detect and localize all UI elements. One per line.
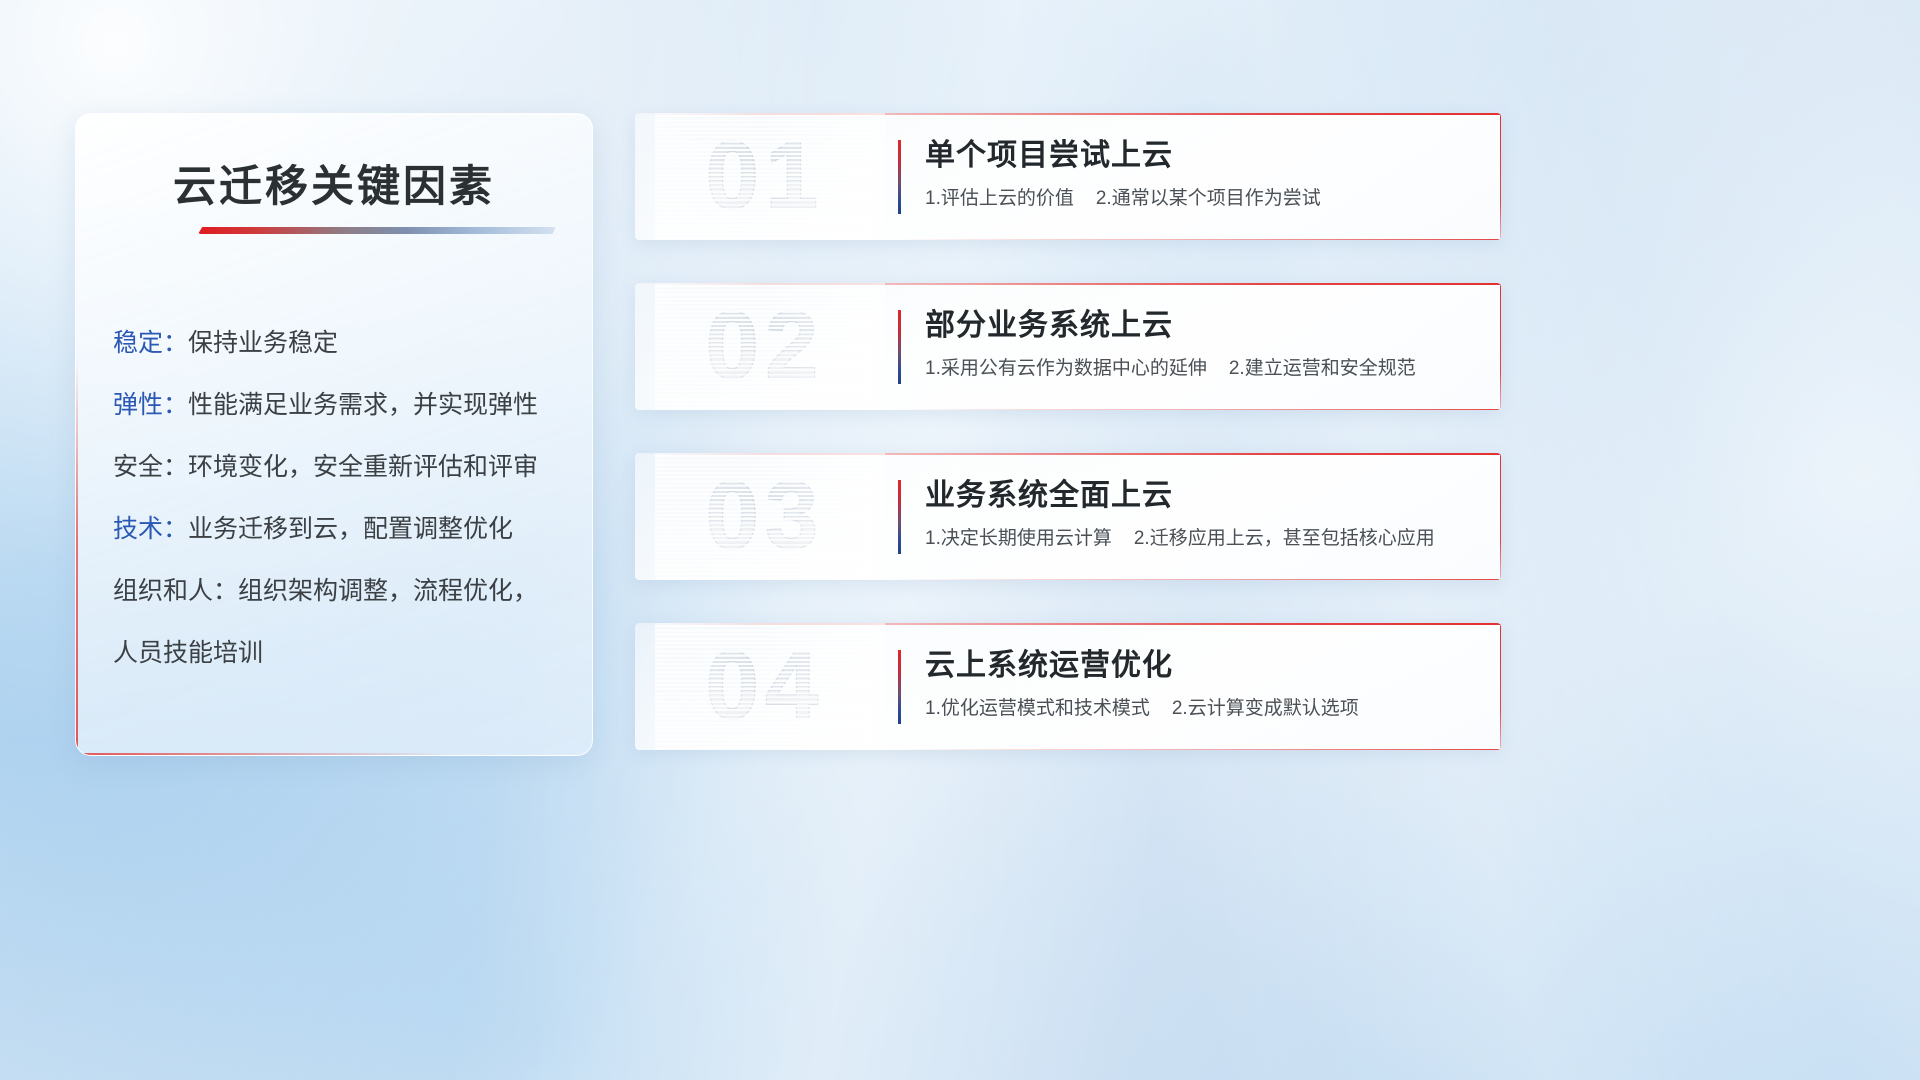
factor-key: 稳定： (113, 329, 188, 357)
card-description-part-2: 2.迁移应用上云，甚至包括核心应用 (1134, 528, 1435, 549)
stage-number: 01 (655, 113, 875, 240)
factor-value: 业务迁移到云，配置调整优化 (188, 515, 513, 543)
stage-number: 02 (655, 283, 875, 410)
list-item: 技术：业务迁移到云，配置调整优化 (113, 498, 570, 560)
card-description: 1.评估上云的价值2.通常以某个项目作为尝试 (925, 186, 1483, 212)
list-item: 弹性：性能满足业务需求，并实现弹性 (113, 374, 570, 436)
card-description-part-2: 2.建立运营和安全规范 (1229, 358, 1416, 379)
card-description-part-2: 2.通常以某个项目作为尝试 (1096, 188, 1321, 209)
card-description-part-1: 1.优化运营模式和技术模式 (925, 698, 1150, 719)
card-description-part-1: 1.采用公有云作为数据中心的延伸 (925, 358, 1207, 379)
stage-card[interactable]: 01 01 单个项目尝试上云 1.评估上云的价值2.通常以某个项目作为尝试 (635, 113, 1501, 240)
card-title: 部分业务系统上云 (925, 304, 1483, 348)
card-bottom-edge (895, 749, 1501, 751)
stage-card[interactable]: 02 02 部分业务系统上云 1.采用公有云作为数据中心的延伸2.建立运营和安全… (635, 283, 1501, 410)
key-factors-panel: 云迁移关键因素 稳定：保持业务稳定 弹性：性能满足业务需求，并实现弹性 安全：环… (75, 113, 593, 756)
factor-key: 组织和人： (113, 577, 238, 605)
factor-value: 人员技能培训 (113, 639, 263, 667)
factor-value: 环境变化，安全重新评估和评审 (188, 453, 538, 481)
card-right-edge (1500, 453, 1502, 580)
factor-value: 组织架构调整，流程优化， (238, 577, 538, 605)
card-bottom-edge (895, 409, 1501, 411)
card-body: 部分业务系统上云 1.采用公有云作为数据中心的延伸2.建立运营和安全规范 (925, 304, 1483, 382)
card-description: 1.决定长期使用云计算2.迁移应用上云，甚至包括核心应用 (925, 526, 1483, 552)
factor-list: 稳定：保持业务稳定 弹性：性能满足业务需求，并实现弹性 安全：环境变化，安全重新… (113, 312, 570, 684)
title-underline-rule (198, 227, 556, 234)
card-description-part-1: 1.决定长期使用云计算 (925, 528, 1112, 549)
factor-key: 安全： (113, 453, 188, 481)
card-accent-divider (898, 310, 901, 384)
list-item: 人员技能培训 (113, 622, 570, 684)
stage-card-list: 01 01 单个项目尝试上云 1.评估上云的价值2.通常以某个项目作为尝试 02… (635, 113, 1501, 793)
stage-number: 03 (655, 453, 875, 580)
card-right-edge (1500, 283, 1502, 410)
card-body: 单个项目尝试上云 1.评估上云的价值2.通常以某个项目作为尝试 (925, 134, 1483, 212)
list-item: 安全：环境变化，安全重新评估和评审 (113, 436, 570, 498)
stage-number: 04 (655, 623, 875, 750)
card-right-edge (1500, 623, 1502, 750)
card-description: 1.优化运营模式和技术模式2.云计算变成默认选项 (925, 696, 1483, 722)
factor-value: 性能满足业务需求，并实现弹性 (188, 391, 538, 419)
factor-value: 保持业务稳定 (188, 329, 338, 357)
card-bottom-edge (895, 239, 1501, 241)
card-title: 云上系统运营优化 (925, 644, 1483, 688)
card-accent-divider (898, 480, 901, 554)
card-description-part-2: 2.云计算变成默认选项 (1172, 698, 1359, 719)
stage-card[interactable]: 04 04 云上系统运营优化 1.优化运营模式和技术模式2.云计算变成默认选项 (635, 623, 1501, 750)
card-accent-divider (898, 140, 901, 214)
card-body: 云上系统运营优化 1.优化运营模式和技术模式2.云计算变成默认选项 (925, 644, 1483, 722)
factor-key: 弹性： (113, 391, 188, 419)
list-item: 稳定：保持业务稳定 (113, 312, 570, 374)
list-item: 组织和人：组织架构调整，流程优化， (113, 560, 570, 622)
card-description: 1.采用公有云作为数据中心的延伸2.建立运营和安全规范 (925, 356, 1483, 382)
card-bottom-edge (895, 579, 1501, 581)
factor-key: 技术： (113, 515, 188, 543)
card-title: 单个项目尝试上云 (925, 134, 1483, 178)
card-body: 业务系统全面上云 1.决定长期使用云计算2.迁移应用上云，甚至包括核心应用 (925, 474, 1483, 552)
card-accent-divider (898, 650, 901, 724)
card-title: 业务系统全面上云 (925, 474, 1483, 518)
card-right-edge (1500, 113, 1502, 240)
page-title: 云迁移关键因素 (76, 152, 592, 214)
card-description-part-1: 1.评估上云的价值 (925, 188, 1074, 209)
slide-canvas: 云迁移关键因素 稳定：保持业务稳定 弹性：性能满足业务需求，并实现弹性 安全：环… (0, 0, 1920, 1080)
stage-card[interactable]: 03 03 业务系统全面上云 1.决定长期使用云计算2.迁移应用上云，甚至包括核… (635, 453, 1501, 580)
